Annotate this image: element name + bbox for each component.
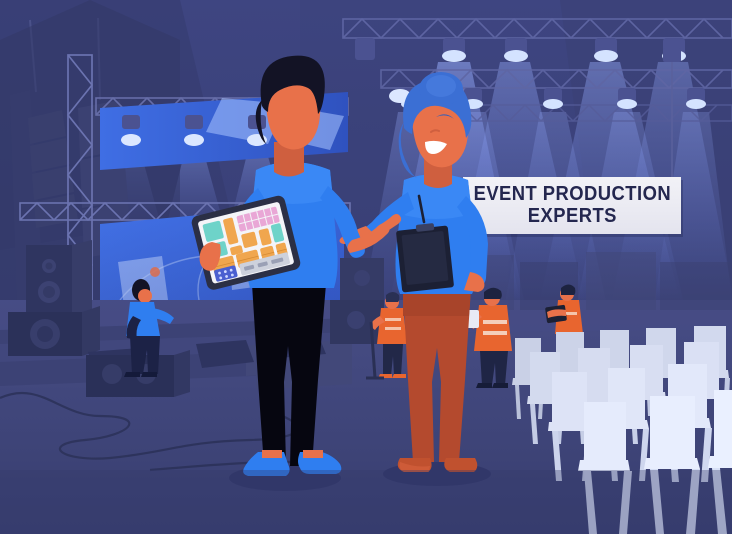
foreground-shade	[0, 0, 732, 534]
illustration-canvas: EVENT PRODUCTION EXPERTS	[0, 0, 732, 534]
